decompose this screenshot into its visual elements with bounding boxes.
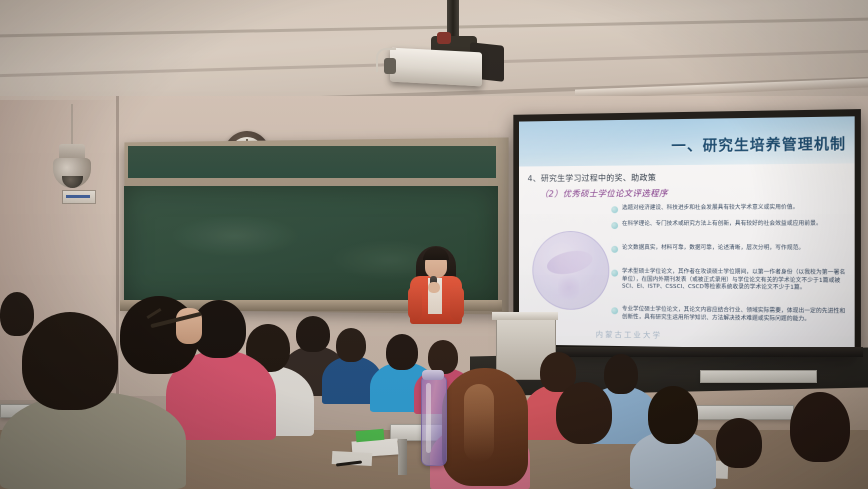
desk xyxy=(700,370,817,383)
projector-icon xyxy=(390,48,482,87)
slide-bullet: 论文数据真实，材料可靠，数据可靠，论述清晰，层次分明，写作规范。 xyxy=(611,245,844,254)
slide-bullet: 选题对经济建设、科技进步和社会发展具有较大学术意义或实用价值。 xyxy=(611,204,844,213)
student-head xyxy=(604,354,638,394)
bullet-dot-icon xyxy=(611,246,618,253)
slide-bullet-text: 论文数据真实，材料可靠，数据可靠，论述清晰，层次分明，写作规范。 xyxy=(622,245,804,253)
student-head xyxy=(648,386,698,444)
slide-university-watermark: 内蒙古工业大学 xyxy=(596,329,662,341)
hair-highlight xyxy=(464,384,494,462)
chalk-smudge xyxy=(170,215,300,257)
presenter-arm-left xyxy=(408,286,422,320)
projection-screen: 一、研究生培养管理机制 4、研究生学习过程中的奖、助政策 （2）优秀硕士学位论文… xyxy=(513,109,861,357)
desk-leg xyxy=(398,439,407,475)
student-head xyxy=(296,316,330,352)
slide-bullet: 在科学理论、专门技术或研究方法上有创新，具有较好的社会效益或应用前景。 xyxy=(611,221,844,229)
student-head xyxy=(0,292,34,336)
slide-bullet-text: 专业学位硕士学位论文，其论文内容应结合行业、领域实际需要，体现出一定的先进性和创… xyxy=(622,306,848,324)
classroom-photo: 一、研究生培养管理机制 4、研究生学习过程中的奖、助政策 （2）优秀硕士学位论文… xyxy=(0,0,868,489)
projector-cable xyxy=(376,48,396,72)
lectern-top xyxy=(492,312,558,320)
slide-surface: 一、研究生培养管理机制 4、研究生学习过程中的奖、助政策 （2）优秀硕士学位论文… xyxy=(519,116,855,349)
presenter-hand xyxy=(428,282,440,293)
student-head xyxy=(790,392,850,462)
wall-plaque xyxy=(62,190,96,204)
blackboard-upper-panel xyxy=(128,146,496,178)
slide-bullet-text: 学术型硕士学位论文，其作者在攻读硕士学位期间，以第一作者身份（以我校为第一署名单… xyxy=(622,269,848,293)
water-bottle xyxy=(421,376,447,466)
slide-bullet-text: 选题对经济建设、科技进步和社会发展具有较大学术意义或实用价值。 xyxy=(622,205,798,213)
slide-bullet-text: 在科学理论、专门技术或研究方法上有创新，具有较好的社会效益或应用前景。 xyxy=(622,221,822,229)
student-head xyxy=(386,334,418,370)
slide-bullet: 学术型硕士学位论文，其作者在攻读硕士学位期间，以第一作者身份（以我校为第一署名单… xyxy=(611,269,848,293)
slide-title: 一、研究生培养管理机制 xyxy=(671,133,846,156)
slide-bullet: 专业学位硕士学位论文，其论文内容应结合行业、领域实际需要，体现出一定的先进性和创… xyxy=(611,306,848,324)
slide-section-heading: 4、研究生学习过程中的奖、助政策 xyxy=(528,171,657,184)
bullet-dot-icon xyxy=(611,206,618,213)
camera-wire xyxy=(71,104,73,146)
student-head xyxy=(716,418,762,468)
bullet-dot-icon xyxy=(611,222,618,229)
bottle-highlight xyxy=(426,383,431,453)
bullet-dot-icon xyxy=(611,270,618,277)
foreground-student-head xyxy=(22,312,118,410)
bottle-cap xyxy=(422,370,444,380)
projector-red-fitting xyxy=(437,32,451,44)
student-head xyxy=(428,340,458,374)
student-head xyxy=(556,382,612,444)
slide-subsection-heading: （2）优秀硕士学位论文评选程序 xyxy=(540,187,668,200)
student-head xyxy=(336,328,366,362)
bullet-dot-icon xyxy=(611,307,618,314)
globe-watermark-graphic xyxy=(532,231,609,310)
presenter-arm-right xyxy=(450,286,464,320)
